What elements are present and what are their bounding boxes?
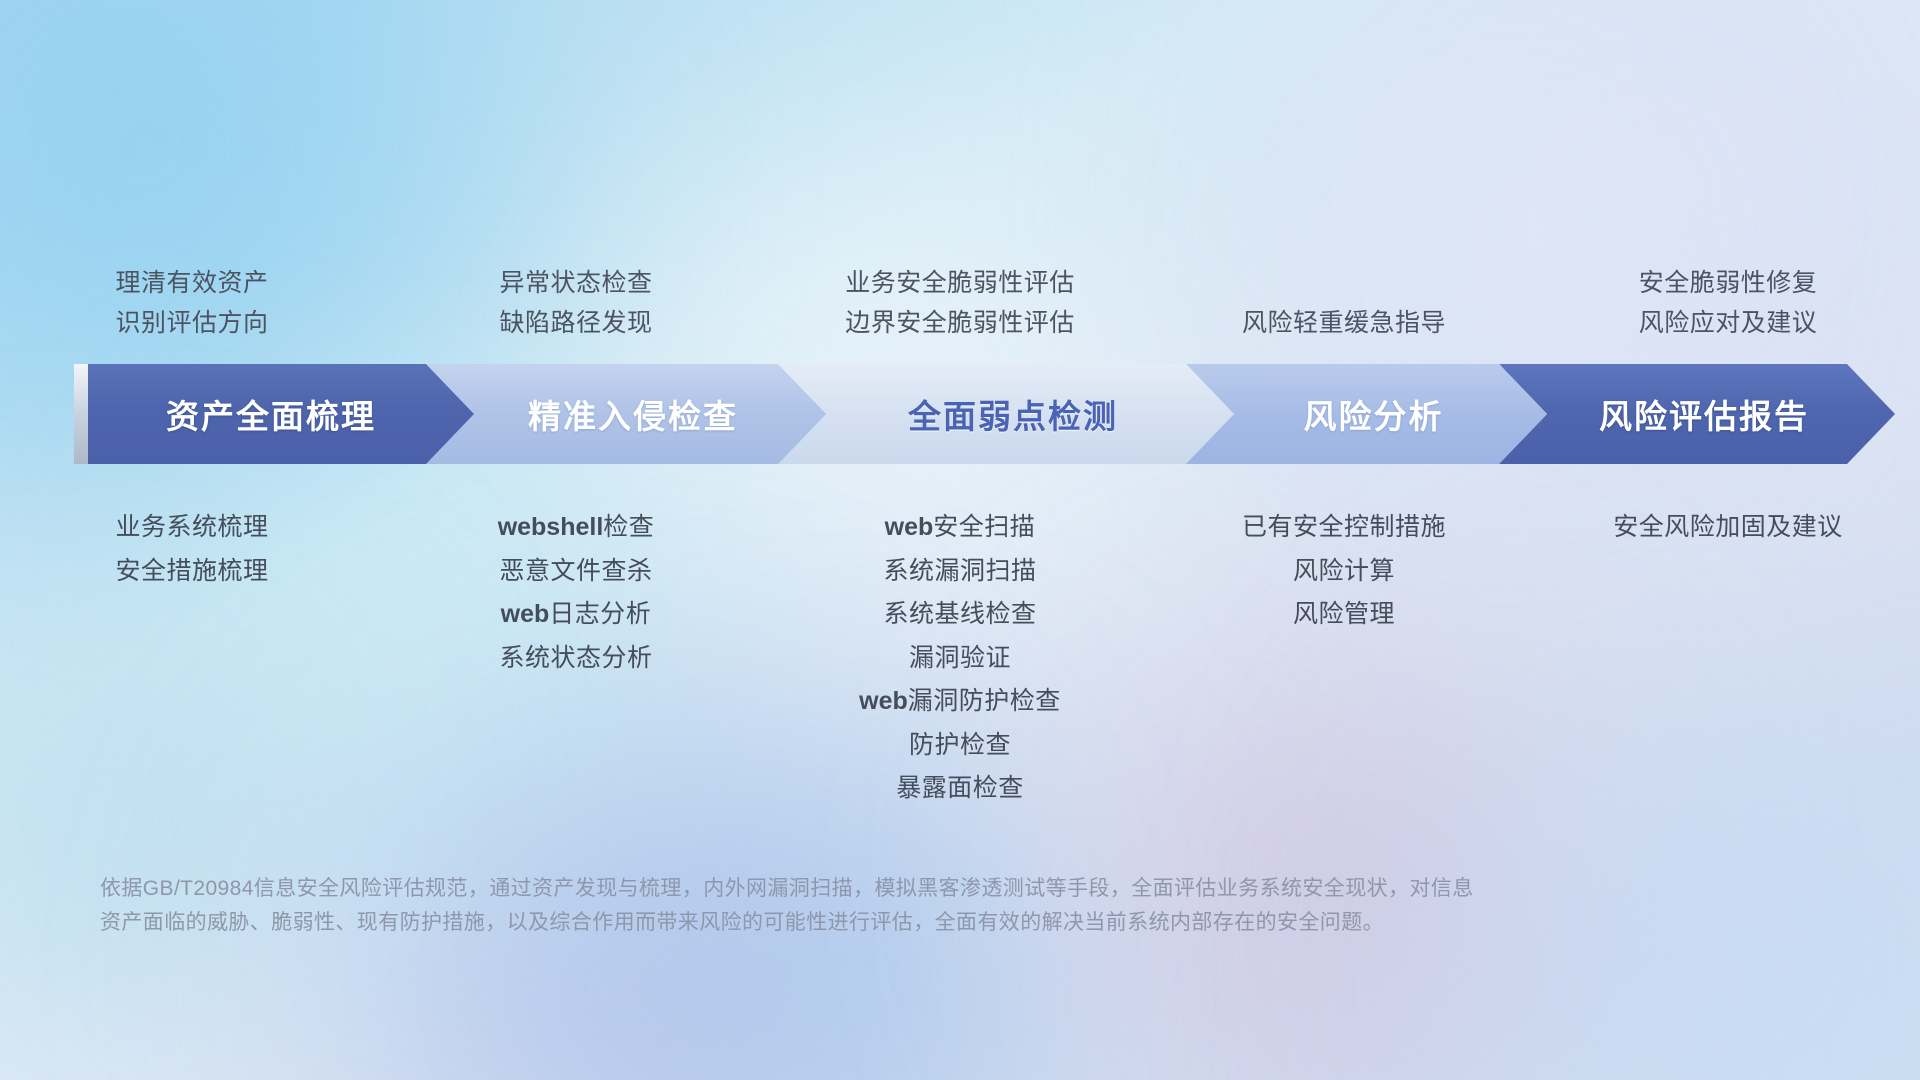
process-step-label: 风险评估报告: [1599, 390, 1809, 438]
detail-item-text: 漏洞防护检查: [908, 687, 1061, 715]
process-step-risk-analysis[interactable]: 风险分析: [1186, 364, 1547, 464]
detail-item-text: 安全扫描: [933, 513, 1035, 541]
top-annotation-column-risk-analysis: 风险轻重缓急指导: [1152, 220, 1536, 340]
detail-item: web漏洞防护检查: [859, 688, 1061, 716]
detail-item: 已有安全控制措施: [1242, 514, 1446, 542]
top-annotation-item: 风险应对及建议: [1639, 310, 1818, 336]
detail-item: 系统状态分析: [499, 645, 652, 673]
detail-item: 系统漏洞扫描: [883, 558, 1036, 586]
top-annotation-item: 理清有效资产: [115, 270, 268, 296]
process-step-weakness-detection[interactable]: 全面弱点检测: [778, 364, 1234, 464]
top-annotation-item: 安全脆弱性修复: [1639, 270, 1818, 296]
detail-item: 系统基线检查: [883, 601, 1036, 629]
detail-item-latin: webshell: [498, 513, 604, 541]
detail-item: 业务系统梳理: [115, 514, 268, 542]
top-annotations-row: 理清有效资产识别评估方向异常状态检查缺陷路径发现业务安全脆弱性评估边界安全脆弱性…: [0, 220, 1920, 340]
process-step-label: 资产全面梳理: [166, 390, 376, 438]
top-annotation-column-asset-inventory: 理清有效资产识别评估方向: [0, 220, 384, 340]
detail-item: 恶意文件查杀: [499, 558, 652, 586]
footer-line-1: 依据GB/T20984信息安全风险评估规范，通过资产发现与梳理，内外网漏洞扫描，…: [100, 872, 1620, 906]
detail-item: web日志分析: [501, 601, 652, 629]
detail-item: webshell检查: [498, 514, 655, 542]
process-step-label: 风险分析: [1304, 390, 1444, 438]
top-annotation-column-weakness-detection: 业务安全脆弱性评估边界安全脆弱性评估: [768, 220, 1152, 340]
detail-item: 漏洞验证: [909, 645, 1011, 673]
top-annotation-item: 边界安全脆弱性评估: [845, 310, 1075, 336]
detail-column-intrusion-check: webshell检查恶意文件查杀web日志分析系统状态分析: [384, 500, 768, 672]
footer-line-2: 资产面临的威胁、脆弱性、现有防护措施，以及综合作用而带来风险的可能性进行评估，全…: [100, 906, 1620, 940]
footer-description: 依据GB/T20984信息安全风险评估规范，通过资产发现与梳理，内外网漏洞扫描，…: [100, 872, 1620, 940]
detail-column-risk-report: 安全风险加固及建议: [1536, 500, 1920, 542]
detail-item-text: 检查: [603, 513, 654, 541]
top-annotation-item: 风险轻重缓急指导: [1242, 310, 1446, 336]
bottom-detail-columns: 业务系统梳理安全措施梳理webshell检查恶意文件查杀web日志分析系统状态分…: [0, 500, 1920, 803]
detail-item-latin: web: [501, 600, 550, 628]
top-annotation-item: 异常状态检查: [499, 270, 652, 296]
detail-item: 安全风险加固及建议: [1613, 514, 1843, 542]
top-annotation-item: 业务安全脆弱性评估: [845, 270, 1075, 296]
top-annotation-column-risk-report: 安全脆弱性修复风险应对及建议: [1536, 220, 1920, 340]
process-step-label: 全面弱点检测: [908, 390, 1118, 438]
detail-column-weakness-detection: web安全扫描系统漏洞扫描系统基线检查漏洞验证web漏洞防护检查防护检查暴露面检…: [768, 500, 1152, 803]
detail-item-latin: web: [885, 513, 934, 541]
detail-item: 防护检查: [909, 732, 1011, 760]
process-chevron-band: 资产全面梳理精准入侵检查全面弱点检测风险分析风险评估报告: [88, 364, 1848, 464]
detail-item: 风险计算: [1293, 558, 1395, 586]
process-step-risk-report[interactable]: 风险评估报告: [1499, 364, 1895, 464]
detail-item: 暴露面检查: [896, 775, 1024, 803]
detail-item: 风险管理: [1293, 601, 1395, 629]
process-step-label: 精准入侵检查: [528, 390, 738, 438]
process-step-asset-inventory[interactable]: 资产全面梳理: [88, 364, 474, 464]
top-annotation-item: 识别评估方向: [115, 310, 268, 336]
detail-column-risk-analysis: 已有安全控制措施风险计算风险管理: [1152, 500, 1536, 629]
detail-item: web安全扫描: [885, 514, 1036, 542]
top-annotation-column-intrusion-check: 异常状态检查缺陷路径发现: [384, 220, 768, 340]
detail-item-text: 日志分析: [549, 600, 651, 628]
detail-item: 安全措施梳理: [115, 558, 268, 586]
detail-item-latin: web: [859, 687, 908, 715]
process-step-intrusion-check[interactable]: 精准入侵检查: [426, 364, 826, 464]
detail-column-asset-inventory: 业务系统梳理安全措施梳理: [0, 500, 384, 585]
top-annotation-item: 缺陷路径发现: [499, 310, 652, 336]
